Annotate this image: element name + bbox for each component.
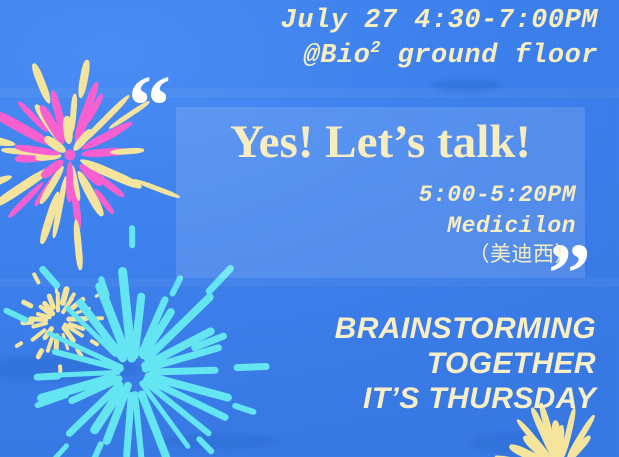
tagline-text: BRAINSTORMING TOGETHER IT’S THURSDAY xyxy=(0,312,596,416)
event-location-suffix: ground floor xyxy=(381,41,598,71)
event-location: @Bio2 ground floor xyxy=(0,38,598,73)
background-blob-top xyxy=(432,79,502,92)
poster-canvas: “ ” July 27 4:30-7:00PM @Bio2 ground flo… xyxy=(0,0,619,457)
session-company: Medicilon xyxy=(176,211,576,242)
tagline-line-3: IT’S THURSDAY xyxy=(0,382,596,417)
tagline-line-2: TOGETHER xyxy=(0,347,596,382)
firework-spark xyxy=(66,161,73,202)
tagline-line-1: BRAINSTORMING xyxy=(0,312,596,347)
event-datetime: July 27 4:30-7:00PM xyxy=(0,4,598,38)
event-location-prefix: @Bio xyxy=(304,41,371,71)
event-header: July 27 4:30-7:00PM @Bio2 ground floor xyxy=(0,4,598,74)
background-band-lower xyxy=(0,278,619,287)
headline-text: Yes! Let’s talk! xyxy=(176,117,585,169)
firework-spark xyxy=(129,225,135,248)
session-time: 5:00-5:20PM xyxy=(176,180,576,211)
event-location-superscript: 2 xyxy=(370,39,381,58)
session-details: 5:00-5:20PM Medicilon （美迪西） xyxy=(176,180,576,269)
session-company-cjk: （美迪西） xyxy=(176,241,576,269)
opening-quote-mark: “ xyxy=(128,62,169,148)
